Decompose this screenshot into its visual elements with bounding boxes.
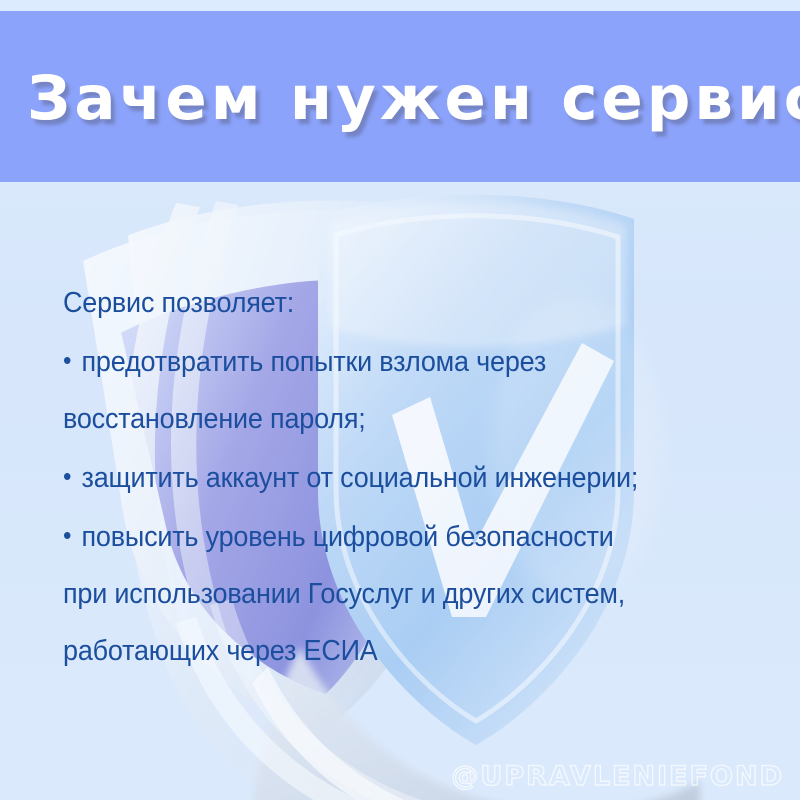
text-line-bullet-2: защитить аккаунт от социальной инженерии… (63, 448, 714, 507)
watermark: @UPRAVLENIEFOND (451, 761, 784, 792)
body-text-block: Сервис позволяет: предотвратить попытки … (63, 275, 763, 680)
header-band: Зачем нужен сервис? (0, 11, 800, 182)
text-line-cont-1: восстановление пароля; (63, 391, 714, 448)
poster-canvas: Зачем нужен сервис? (0, 0, 800, 800)
text-line-intro: Сервис позволяет: (63, 275, 714, 332)
page-title: Зачем нужен сервис? (27, 63, 800, 134)
text-line-cont-2: при использовании Госуслуг и других сист… (63, 566, 714, 623)
text-line-bullet-1: предотвратить попытки взлома через (63, 332, 714, 391)
top-strip (0, 0, 800, 11)
text-line-cont-3: работающих через ЕСИА (63, 623, 714, 680)
text-line-bullet-3: повысить уровень цифровой безопасности (63, 507, 714, 566)
